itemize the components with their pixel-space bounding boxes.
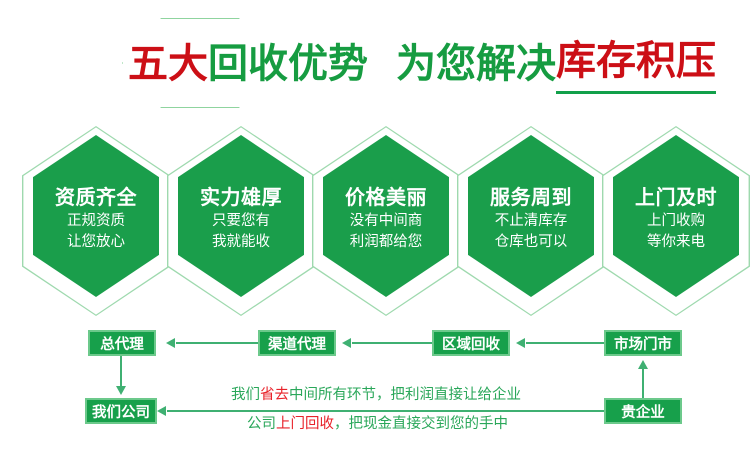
title-segment-wudai: 五大: [128, 38, 208, 90]
flow-caption-1-a: 我们: [231, 387, 260, 403]
advantage-line2: 仓库也可以: [495, 234, 568, 251]
advantage-line1: 正规资质: [67, 213, 125, 230]
advantage-card-4[interactable]: 服务周到 不止清库存 仓库也可以: [457, 126, 605, 316]
flow-connector-down-line: [120, 356, 122, 388]
flow-box-qu-yu-hui-shou[interactable]: 区域回收: [432, 330, 510, 356]
distribution-flow-diagram: 总代理 渠道代理 区域回收 市场门市 我们公司 贵企业 我们省去中间所有环节，把…: [0, 318, 750, 453]
page-title-bar: 五大 回收优势 为您解决 库存积压: [0, 24, 750, 104]
flow-caption-1-c: 中间所有环节，把利润直接让给企业: [289, 387, 521, 403]
advantage-title: 资质齐全: [55, 185, 137, 209]
flow-arrow-2-head: [342, 338, 351, 348]
advantages-hexagon-row: 资质齐全 正规资质 让您放心 实力雄厚 只要您有 我就能收 价格美丽 没有中间商…: [0, 126, 750, 316]
advantage-card-5[interactable]: 上门及时 上门收购 等你来电: [602, 126, 750, 316]
advantage-line1: 没有中间商: [350, 213, 423, 230]
advantage-title: 上门及时: [635, 185, 717, 209]
advantage-line2: 让您放心: [67, 234, 125, 251]
advantage-title: 服务周到: [490, 185, 572, 209]
page-title: 五大 回收优势 为您解决 库存积压: [128, 24, 716, 104]
advantage-title: 实力雄厚: [200, 185, 282, 209]
flow-box-gui-qi-ye[interactable]: 贵企业: [604, 398, 682, 424]
advantage-title: 价格美丽: [345, 185, 427, 209]
flow-caption-2-c: ，把现金直接交到您的手中: [334, 416, 508, 432]
advantage-line1: 上门收购: [647, 213, 705, 230]
advantage-line2: 等你来电: [647, 234, 705, 251]
flow-arrow-long-head: [157, 406, 166, 416]
advantage-card-2[interactable]: 实力雄厚 只要您有 我就能收: [167, 126, 315, 316]
advantage-line1: 不止清库存: [495, 213, 568, 230]
flow-caption-1-highlight: 省去: [260, 387, 289, 403]
flow-arrow-1-head: [166, 338, 175, 348]
flow-box-shi-chang-men-shi[interactable]: 市场门市: [604, 330, 682, 356]
advantage-card-3[interactable]: 价格美丽 没有中间商 利润都给您: [312, 126, 460, 316]
flow-arrow-3-head: [516, 338, 525, 348]
flow-caption-1: 我们省去中间所有环节，把利润直接让给企业: [231, 386, 521, 404]
flow-connector-up-line: [642, 368, 644, 398]
advantage-line1: 只要您有: [212, 213, 270, 230]
advantage-card-1[interactable]: 资质齐全 正规资质 让您放心: [22, 126, 170, 316]
flow-arrow-down-head: [116, 386, 126, 395]
flow-connector-2-line: [352, 342, 432, 344]
advantage-line2: 我就能收: [212, 234, 270, 251]
flow-connector-1-line: [176, 342, 258, 344]
flow-arrow-up-head: [638, 360, 648, 369]
flow-box-wo-men-gong-si[interactable]: 我们公司: [85, 398, 157, 424]
flow-connector-long-line: [167, 410, 604, 412]
flow-connector-3-line: [526, 342, 604, 344]
flow-caption-2-a: 公司: [247, 416, 276, 432]
flow-caption-2: 公司上门回收，把现金直接交到您的手中: [247, 415, 508, 433]
title-segment-kucun: 库存积压: [556, 35, 716, 94]
flow-caption-2-highlight: 上门回收: [276, 416, 334, 432]
advantage-line2: 利润都给您: [350, 234, 423, 251]
flow-box-qu-dao-dai-li[interactable]: 渠道代理: [258, 330, 336, 356]
flow-box-zong-dai-li[interactable]: 总代理: [88, 330, 156, 356]
title-segment-weinin: 为您解决: [396, 38, 556, 90]
title-segment-huishou: 回收优势: [208, 38, 368, 90]
